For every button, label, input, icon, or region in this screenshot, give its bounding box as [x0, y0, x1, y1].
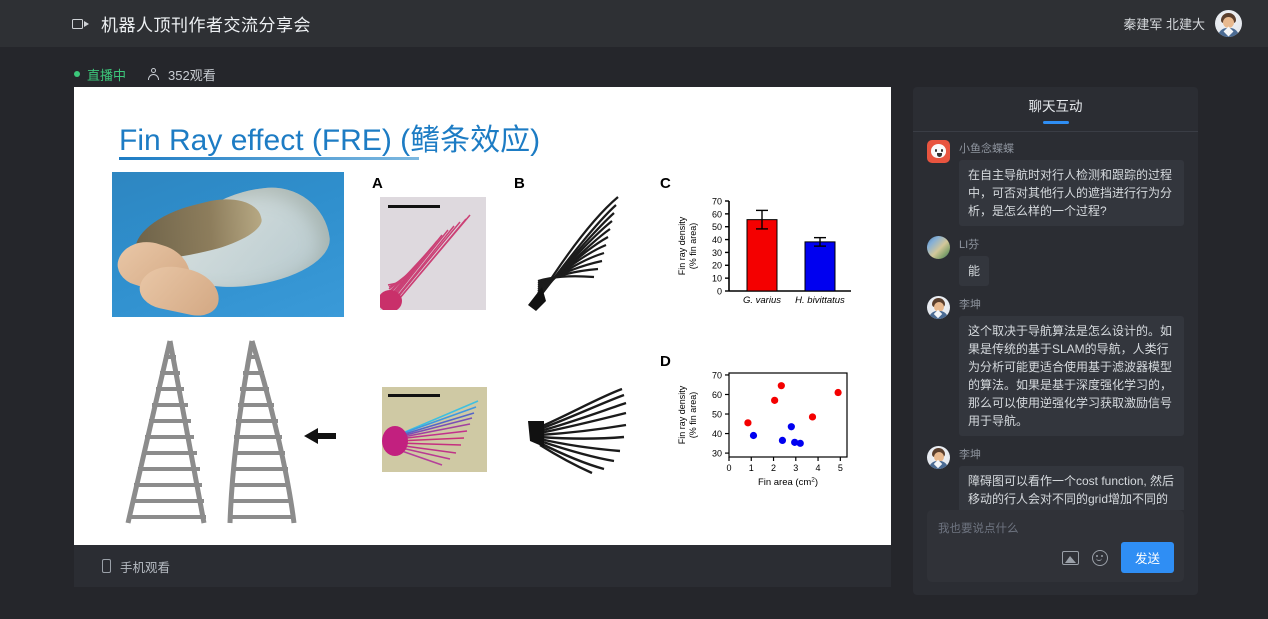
- svg-text:70: 70: [712, 370, 722, 380]
- mobile-phone-icon: [102, 559, 111, 573]
- svg-text:50: 50: [712, 222, 722, 232]
- svg-text:5: 5: [838, 463, 843, 473]
- svg-text:1: 1: [749, 463, 754, 473]
- video-footer: 手机观看: [74, 545, 891, 587]
- chat-message: 小鱼念蝶蝶在自主导航时对行人检测和跟踪的过程中，可否对其他行人的遮挡进行行为分析…: [927, 140, 1184, 226]
- video-column: Fin Ray effect (FRE) (鳍条效应): [74, 87, 891, 587]
- user-name: 秦建军 北建大: [1123, 14, 1205, 33]
- message-author: LI芬: [959, 236, 1184, 252]
- svg-text:(% fin area): (% fin area): [688, 223, 698, 270]
- svg-text:10: 10: [712, 274, 722, 284]
- svg-text:0: 0: [717, 286, 722, 296]
- message-body: 李坤这个取决于导航算法是怎么设计的。如果是传统的基于SLAM的导航，人类行为分析…: [959, 296, 1184, 436]
- fin-ray-schematic: [112, 335, 344, 531]
- panel-label-a: A: [372, 175, 383, 192]
- tab-active-indicator: [1043, 121, 1069, 124]
- fin-photo-image: [112, 172, 344, 317]
- chart-panel-c: 010203040506070G. variusH. bivittatusFin…: [667, 191, 857, 321]
- header-user[interactable]: 秦建军 北建大: [1123, 10, 1242, 37]
- chart-panel-d: 3040506070012345Fin area (cm2)Fin ray de…: [667, 365, 862, 500]
- svg-text:3: 3: [793, 463, 798, 473]
- message-text: 在自主导航时对行人检测和跟踪的过程中，可否对其他行人的遮挡进行行为分析，是怎么样…: [959, 160, 1184, 226]
- chat-tabs: 聊天互动: [913, 87, 1198, 131]
- person-icon: [148, 68, 159, 81]
- cat-avatar[interactable]: [927, 140, 950, 163]
- stream-status-row: 直播中 352观看: [0, 47, 1268, 87]
- main-stage: Fin Ray effect (FRE) (鳍条效应): [0, 87, 1268, 595]
- svg-text:30: 30: [712, 248, 722, 258]
- svg-text:40: 40: [712, 429, 722, 439]
- svg-text:0: 0: [726, 463, 731, 473]
- message-body: 小鱼念蝶蝶在自主导航时对行人检测和跟踪的过程中，可否对其他行人的遮挡进行行为分析…: [959, 140, 1184, 226]
- slide-title: Fin Ray effect (FRE) (鳍条效应): [119, 115, 540, 159]
- chat-panel: 聊天互动 小鱼念蝶蝶在自主导航时对行人检测和跟踪的过程中，可否对其他行人的遮挡进…: [913, 87, 1198, 595]
- panel-b2-image: [522, 385, 634, 477]
- message-body: LI芬能: [959, 236, 1184, 286]
- panel-a-image: [380, 197, 486, 310]
- chat-input-placeholder[interactable]: 我也要说点什么: [938, 520, 1173, 536]
- svg-text:40: 40: [712, 235, 722, 245]
- message-text: 能: [959, 256, 989, 286]
- figure-panels: A B C D: [362, 175, 862, 535]
- chat-message: 李坤障碍图可以看作一个cost function, 然后移动的行人会对不同的gr…: [927, 446, 1184, 510]
- watch-on-mobile-label[interactable]: 手机观看: [120, 557, 170, 576]
- svg-text:(% fin area): (% fin area): [688, 392, 698, 439]
- svg-text:4: 4: [816, 463, 821, 473]
- image-icon[interactable]: [1062, 551, 1079, 565]
- video-camera-icon: [72, 17, 90, 31]
- message-text: 障碍图可以看作一个cost function, 然后移动的行人会对不同的grid…: [959, 466, 1184, 510]
- tab-chat[interactable]: 聊天互动: [1029, 95, 1083, 124]
- svg-text:Fin area (cm2): Fin area (cm2): [758, 477, 818, 489]
- tab-chat-label: 聊天互动: [1029, 99, 1083, 114]
- person-avatar[interactable]: [927, 296, 950, 319]
- status-badge-live: 直播中: [74, 65, 126, 84]
- app-header: 机器人顶刊作者交流分享会 秦建军 北建大: [0, 0, 1268, 47]
- panel-label-c: C: [660, 175, 671, 192]
- live-label: 直播中: [87, 65, 126, 84]
- send-button[interactable]: 发送: [1121, 542, 1174, 573]
- page-title: 机器人顶刊作者交流分享会: [101, 11, 311, 36]
- emoji-smile-icon[interactable]: [1092, 550, 1108, 566]
- panel-label-b: B: [514, 175, 525, 192]
- message-body: 李坤障碍图可以看作一个cost function, 然后移动的行人会对不同的gr…: [959, 446, 1184, 510]
- composer-actions: 发送: [1062, 542, 1174, 573]
- svg-text:2: 2: [771, 463, 776, 473]
- message-author: 小鱼念蝶蝶: [959, 140, 1184, 156]
- message-author: 李坤: [959, 296, 1184, 312]
- title-underline: [119, 157, 419, 160]
- avatar[interactable]: [1215, 10, 1242, 37]
- viewer-count: 352观看: [148, 65, 216, 84]
- svg-text:70: 70: [712, 196, 722, 206]
- chat-message-list[interactable]: 小鱼念蝶蝶在自主导航时对行人检测和跟踪的过程中，可否对其他行人的遮挡进行行为分析…: [913, 132, 1198, 510]
- chat-composer[interactable]: 我也要说点什么 发送: [927, 510, 1184, 582]
- chat-message: 李坤这个取决于导航算法是怎么设计的。如果是传统的基于SLAM的导航，人类行为分析…: [927, 296, 1184, 436]
- panel-b-image: [522, 191, 632, 313]
- presentation-slide[interactable]: Fin Ray effect (FRE) (鳍条效应): [74, 87, 891, 545]
- photo-avatar[interactable]: [927, 236, 950, 259]
- svg-text:50: 50: [712, 409, 722, 419]
- left-arrow-icon: [304, 428, 336, 444]
- svg-text:30: 30: [712, 448, 722, 458]
- svg-text:Fin ray density: Fin ray density: [677, 385, 687, 444]
- message-text: 这个取决于导航算法是怎么设计的。如果是传统的基于SLAM的导航，人类行为分析可能…: [959, 316, 1184, 436]
- svg-text:60: 60: [712, 209, 722, 219]
- svg-text:60: 60: [712, 390, 722, 400]
- svg-text:Fin ray density: Fin ray density: [677, 216, 687, 275]
- header-left: 机器人顶刊作者交流分享会: [72, 11, 311, 36]
- svg-text:G. varius: G. varius: [743, 295, 781, 306]
- svg-text:20: 20: [712, 261, 722, 271]
- panel-a2-image: [382, 387, 487, 472]
- chat-message: LI芬能: [927, 236, 1184, 286]
- person-avatar[interactable]: [927, 446, 950, 469]
- live-dot-icon: [74, 71, 80, 77]
- message-author: 李坤: [959, 446, 1184, 462]
- svg-text:H. bivittatus: H. bivittatus: [795, 295, 845, 306]
- viewer-count-label: 352观看: [168, 65, 216, 84]
